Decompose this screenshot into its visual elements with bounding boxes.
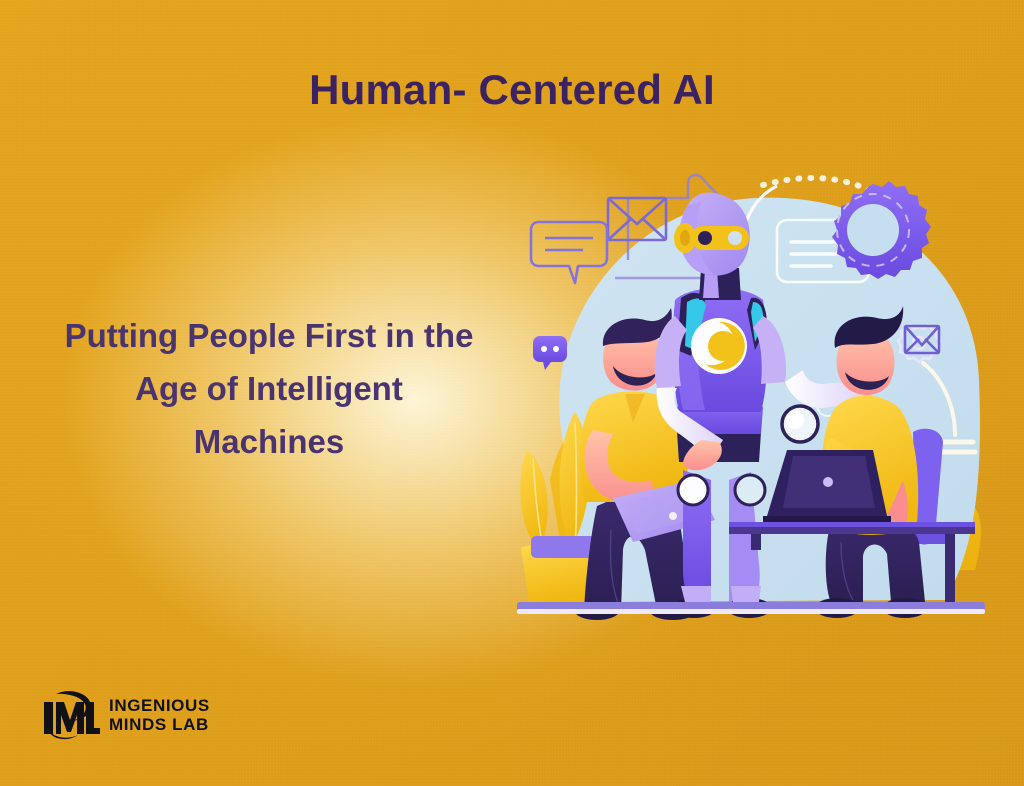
envelope-outline-left: [608, 198, 666, 240]
logo-line-1: INGENIOUS: [109, 697, 210, 715]
illustration: [505, 150, 1005, 620]
chat-badge: [533, 336, 567, 370]
iml-monogram-icon: [38, 688, 100, 743]
logo-line-2: MINDS LAB: [109, 716, 210, 734]
logo[interactable]: INGENIOUS MINDS LAB: [38, 688, 210, 743]
logo-wordmark: INGENIOUS MINDS LAB: [109, 697, 210, 734]
poster-canvas: Human- Centered AI Putting People First …: [0, 0, 1024, 786]
chat-bubble-outline: [531, 222, 607, 283]
floor-line: [517, 602, 985, 614]
poster-subtitle: Putting People First in the Age of Intel…: [60, 310, 478, 468]
page-title: Human- Centered AI: [0, 68, 1024, 112]
